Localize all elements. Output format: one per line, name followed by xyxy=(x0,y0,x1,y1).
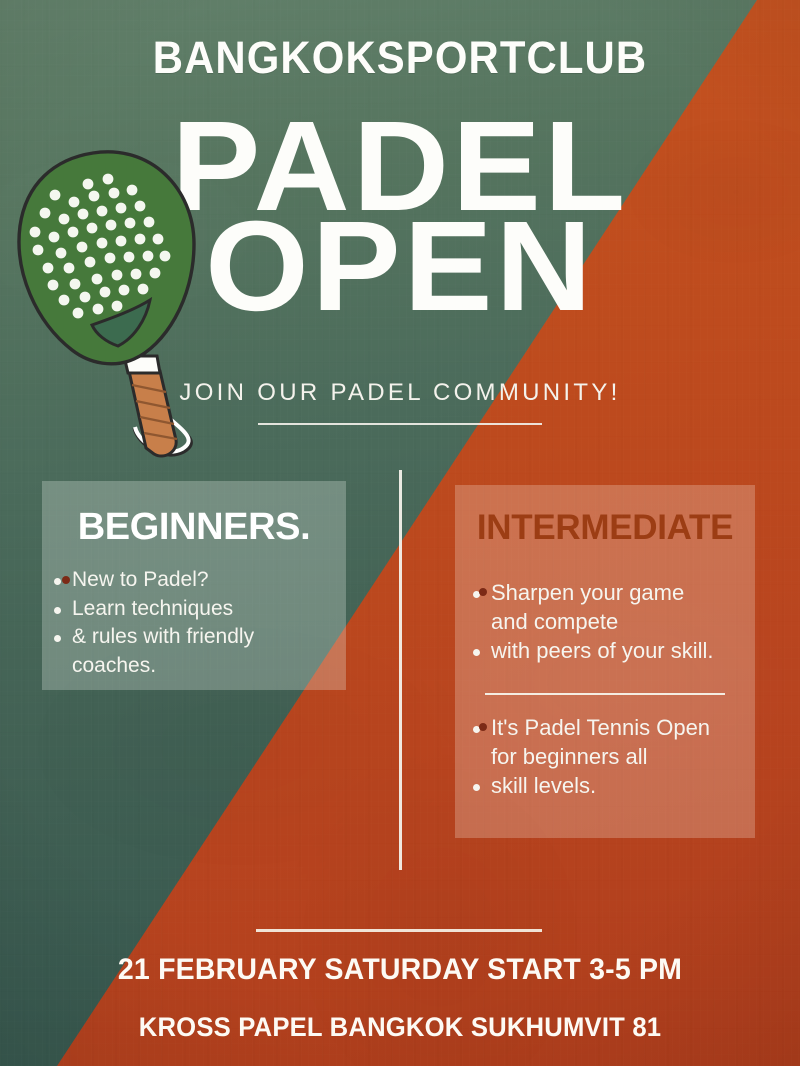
card-intermediate: INTERMEDIATE Sharpen your game and compe… xyxy=(455,485,755,838)
list-item: skill levels. xyxy=(469,773,754,800)
column-divider xyxy=(399,470,402,870)
footer-divider xyxy=(256,929,542,932)
list-item: & rules with friendly xyxy=(50,624,340,650)
card-intermediate-divider xyxy=(485,693,725,695)
card-intermediate-heading: INTERMEDIATE xyxy=(455,508,755,548)
list-item: with peers of your skill. xyxy=(469,638,754,665)
list-item: Sharpen your game xyxy=(469,580,754,607)
poster-canvas: BANGKOKSPORTCLUB PADEL OPEN JOIN OUR PAD… xyxy=(0,0,800,1066)
footer-date-time: 21 FEBRUARY SATURDAY START 3-5 PM xyxy=(20,953,780,987)
card-beginners-heading: BEGINNERS. xyxy=(42,506,346,549)
card-intermediate-bullet-list-2: It's Padel Tennis Open for beginners all… xyxy=(469,715,754,799)
footer-venue: KROSS PAPEL BANGKOK SUKHUMVIT 81 xyxy=(20,1012,780,1043)
list-item: coaches. xyxy=(50,653,340,679)
padel-racket-icon xyxy=(8,140,248,460)
list-item: for beginners all xyxy=(469,744,754,771)
list-item: Learn techniques xyxy=(50,596,340,622)
list-item: New to Padel? xyxy=(50,567,340,593)
card-beginners: BEGINNERS. New to Padel? Learn technique… xyxy=(42,481,346,690)
card-beginners-bullet-list: New to Padel? Learn techniques & rules w… xyxy=(50,567,340,678)
club-name: BANGKOKSPORTCLUB xyxy=(28,32,772,84)
list-item: It's Padel Tennis Open xyxy=(469,715,754,742)
card-intermediate-bullet-list-1: Sharpen your game and compete with peers… xyxy=(469,580,754,664)
list-item: and compete xyxy=(469,609,754,636)
tagline-divider xyxy=(258,423,542,425)
